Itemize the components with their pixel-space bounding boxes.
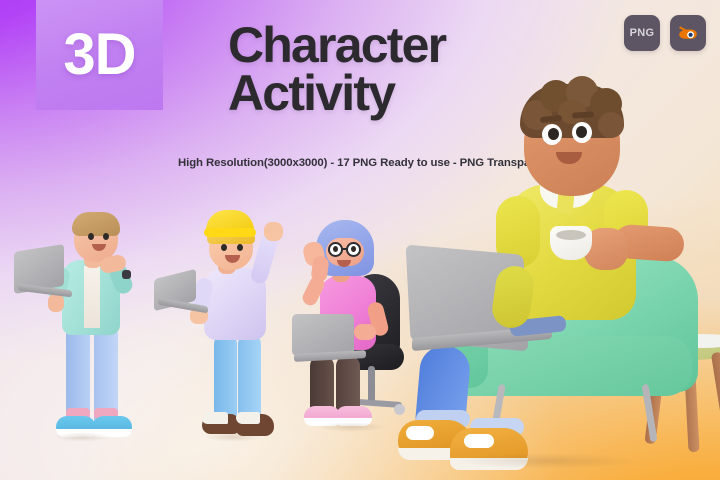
ground-shadow [418, 450, 678, 472]
chair-column [368, 366, 375, 404]
blender-icon [676, 21, 700, 45]
png-badge[interactable]: PNG [624, 15, 660, 51]
character-man-in-armchair-with-coffee [398, 78, 720, 480]
ground-shadow [42, 430, 122, 444]
blender-badge[interactable] [670, 15, 706, 51]
right-shoe-stripe [464, 434, 494, 448]
badge-3d: 3D [36, 0, 163, 110]
ground-shadow [302, 420, 402, 434]
right-eye [237, 244, 243, 251]
coffee-cup-rim [556, 230, 586, 240]
table-leg-3 [711, 352, 720, 445]
right-shoe-panel [236, 412, 260, 424]
left-eye [333, 246, 338, 252]
ground-shadow [192, 430, 274, 444]
right-eye [103, 233, 109, 240]
hair-curl-5 [598, 112, 624, 138]
left-eye [88, 233, 94, 240]
format-badges: PNG [624, 15, 706, 51]
hair [72, 212, 120, 236]
left-shoe-stripe [406, 426, 434, 440]
laptop-screen [292, 314, 354, 356]
left-eye [221, 244, 227, 251]
png-badge-label: PNG [630, 27, 655, 39]
left-eye-pupil [548, 128, 559, 140]
left-hand [48, 294, 64, 312]
beanie-brim [204, 228, 256, 237]
character-standing-man-with-laptop [12, 212, 142, 442]
glasses-bridge [342, 248, 348, 250]
right-eye-pupil [576, 126, 587, 138]
raised-fist [264, 222, 283, 241]
right-eye [351, 246, 356, 252]
wrist-watch [122, 270, 131, 279]
left-shoe-panel [202, 412, 228, 424]
badge-3d-label: 3D [63, 26, 135, 84]
poster-canvas: 3D Character Activity High Resolution(30… [0, 0, 720, 480]
shirt-inner [84, 266, 100, 328]
right-hand [354, 324, 376, 340]
character-cheering-person-with-laptop [152, 216, 282, 442]
